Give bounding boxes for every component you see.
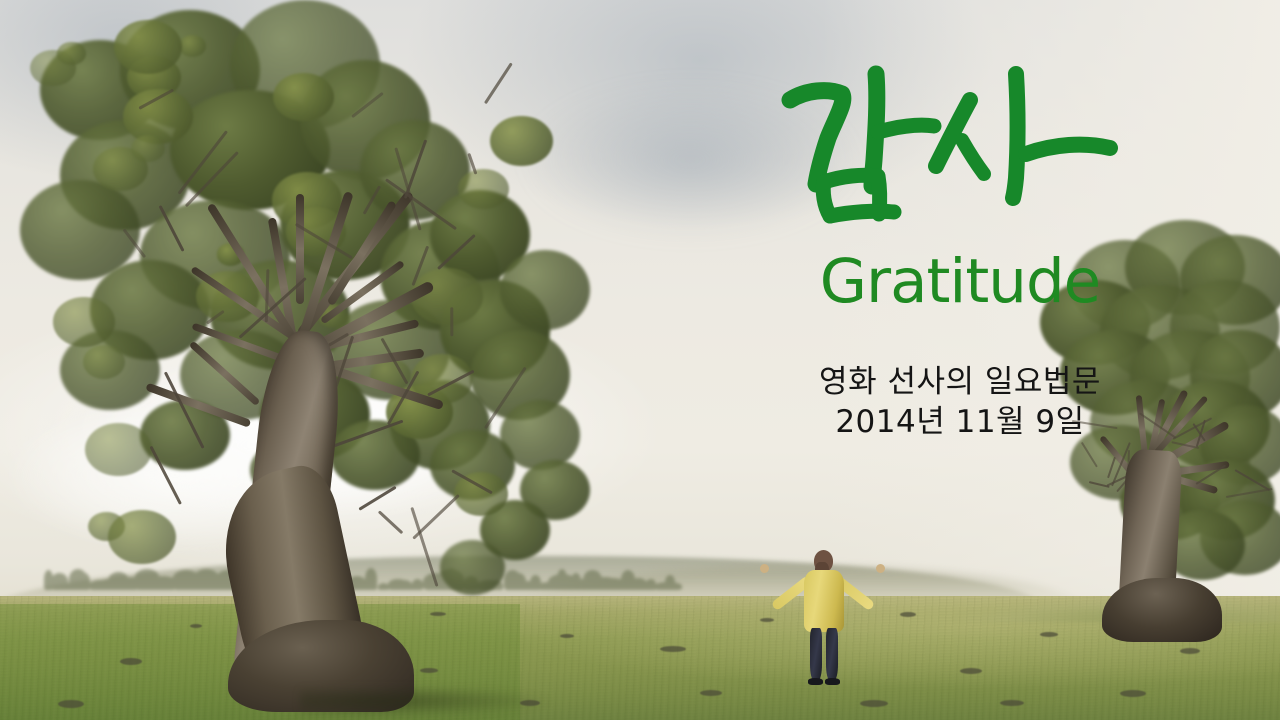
figure-leg-left [810, 628, 822, 680]
foliage-highlight [85, 423, 152, 476]
presentation-slide: Gratitude 영화 선사의 일요법문 2014년 11월 9일 [0, 0, 1280, 720]
tree-twig [378, 510, 403, 533]
korean-calligraphy-title [780, 60, 1140, 245]
figure-woman-arms-raised [760, 528, 890, 688]
foliage-highlight [53, 297, 115, 347]
figure-shoe-left [808, 678, 823, 685]
tree-left-shadow [300, 686, 550, 716]
figure-hand-right [876, 564, 885, 573]
foliage-highlight [490, 116, 553, 166]
foliage-clump [440, 540, 505, 595]
foliage-highlight [108, 510, 176, 564]
tree-left [0, 0, 620, 720]
tree-right-trunk-base [1102, 578, 1222, 642]
figure-jacket [804, 570, 844, 632]
ground-rock [660, 646, 686, 652]
tree-twig [484, 62, 513, 104]
ground-rock [1000, 700, 1024, 706]
foliage-highlight [454, 472, 509, 516]
foliage-highlight [273, 73, 333, 121]
figure-shoe-right [825, 678, 840, 685]
slide-text-block: Gratitude 영화 선사의 일요법문 2014년 11월 9일 [640, 60, 1280, 443]
ground-rock [1120, 690, 1146, 697]
foliage-highlight [114, 20, 182, 74]
foliage-highlight [57, 42, 85, 65]
subtitle-line-2: 2014년 11월 9일 [640, 402, 1280, 442]
ground-rock [860, 700, 888, 707]
english-title: Gratitude [640, 251, 1280, 312]
foliage-clump [500, 400, 580, 470]
ground-rock [900, 612, 916, 617]
treeline-bump [665, 575, 675, 590]
ground-rock [960, 668, 982, 674]
foliage-clump [500, 250, 590, 330]
tree-twig [412, 494, 459, 539]
figure-hand-left [760, 564, 769, 573]
foliage-highlight [83, 345, 125, 379]
foliage-highlight [179, 35, 206, 57]
ground-rock [700, 690, 722, 696]
figure-leg-right [826, 628, 838, 680]
subtitle-line-1: 영화 선사의 일요법문 [640, 362, 1280, 402]
slide-subtitle-group: 영화 선사의 일요법문 2014년 11월 9일 [640, 362, 1280, 443]
foliage-highlight [458, 169, 509, 210]
